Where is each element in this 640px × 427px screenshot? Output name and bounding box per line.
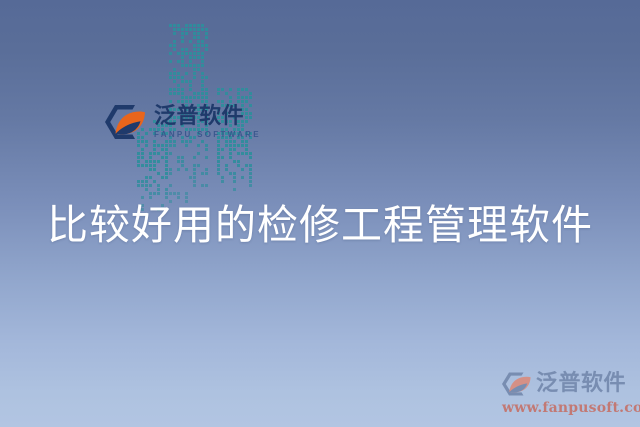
brand-logo-wordmark: 泛普软件 FANPU SOFTWARE xyxy=(154,106,261,139)
watermark-brand-row: 泛普软件 xyxy=(501,369,637,398)
poster-canvas: 泛普软件 FANPU SOFTWARE 比较好用的检修工程管理软件 泛普软件 w… xyxy=(0,0,640,427)
brand-logo-english-name: FANPU SOFTWARE xyxy=(154,131,261,139)
brand-logo-chinese-name: 泛普软件 xyxy=(154,106,261,128)
pixel-skyline-pattern xyxy=(133,16,225,100)
watermark-url: www.fanpusoft.com xyxy=(501,400,637,416)
fanpu-logo-mark-icon xyxy=(104,103,148,141)
brand-logo: 泛普软件 FANPU SOFTWARE xyxy=(104,99,256,145)
fanpu-watermark-mark-icon xyxy=(501,371,533,397)
page-title: 比较好用的检修工程管理软件 xyxy=(0,203,640,249)
site-watermark: 泛普软件 www.fanpusoft.com xyxy=(501,369,637,419)
watermark-chinese-name: 泛普软件 xyxy=(536,373,626,395)
